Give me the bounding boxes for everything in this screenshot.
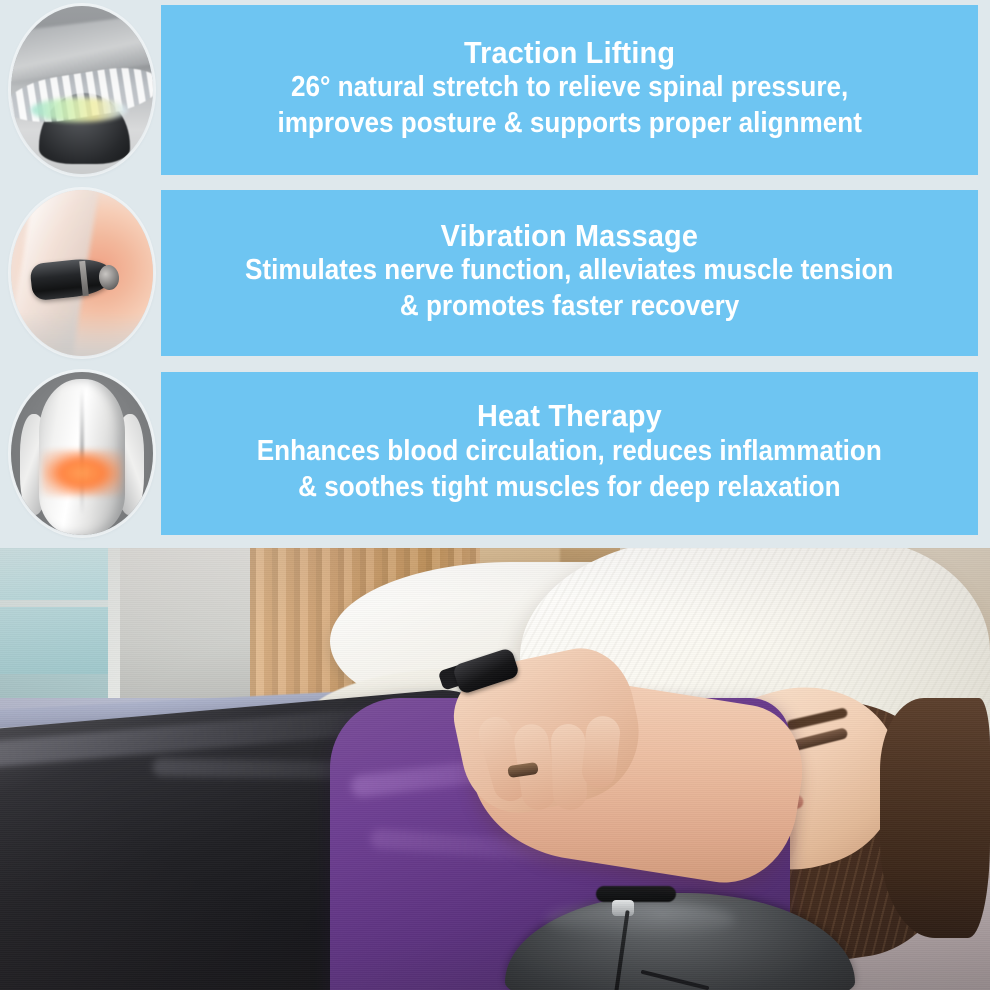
thumb-shadow [11,313,153,356]
feature-banner: Traction Lifting 26° natural stretch to … [161,5,978,175]
spine-glow [31,98,128,122]
vibration-massager-thumbnail-icon [11,190,153,356]
feature-thumbnail-wrapper [8,372,156,535]
device-sheen [545,903,735,937]
feature-title: Heat Therapy [477,399,662,434]
feature-description-line: Stimulates nerve function, alleviates mu… [245,253,893,289]
feature-description-line: & promotes faster recovery [400,289,739,325]
device-port [596,886,676,902]
wall-panel [120,548,250,708]
infographic-page: Traction Lifting 26° natural stretch to … [0,0,990,990]
feature-description-line: & soothes tight muscles for deep relaxat… [298,470,840,506]
feature-thumbnail-wrapper [8,190,156,356]
feature-item-heat-therapy[interactable]: Heat Therapy Enhances blood circulation,… [0,372,990,535]
feature-description-line: improves posture & supports proper align… [277,106,861,142]
feature-description-line: Enhances blood circulation, reduces infl… [257,434,882,470]
spine-traction-thumbnail-icon [11,6,153,174]
feature-thumbnail-wrapper [8,5,156,175]
feature-title: Vibration Massage [441,219,698,254]
feature-title: Traction Lifting [464,36,675,71]
feature-item-traction-lifting[interactable]: Traction Lifting 26° natural stretch to … [0,5,990,175]
feature-banner: Vibration Massage Stimulates nerve funct… [161,190,978,356]
lifestyle-photo [0,548,990,990]
feature-description-line: 26° natural stretch to relieve spinal pr… [291,70,848,106]
hair-front [880,698,990,938]
charging-plug [612,900,634,916]
heat-glow-icon [42,450,122,496]
heat-therapy-back-thumbnail-icon [11,372,153,535]
feature-item-vibration-massage[interactable]: Vibration Massage Stimulates nerve funct… [0,190,990,356]
feature-banner: Heat Therapy Enhances blood circulation,… [161,372,978,535]
feature-list: Traction Lifting 26° natural stretch to … [0,0,990,548]
